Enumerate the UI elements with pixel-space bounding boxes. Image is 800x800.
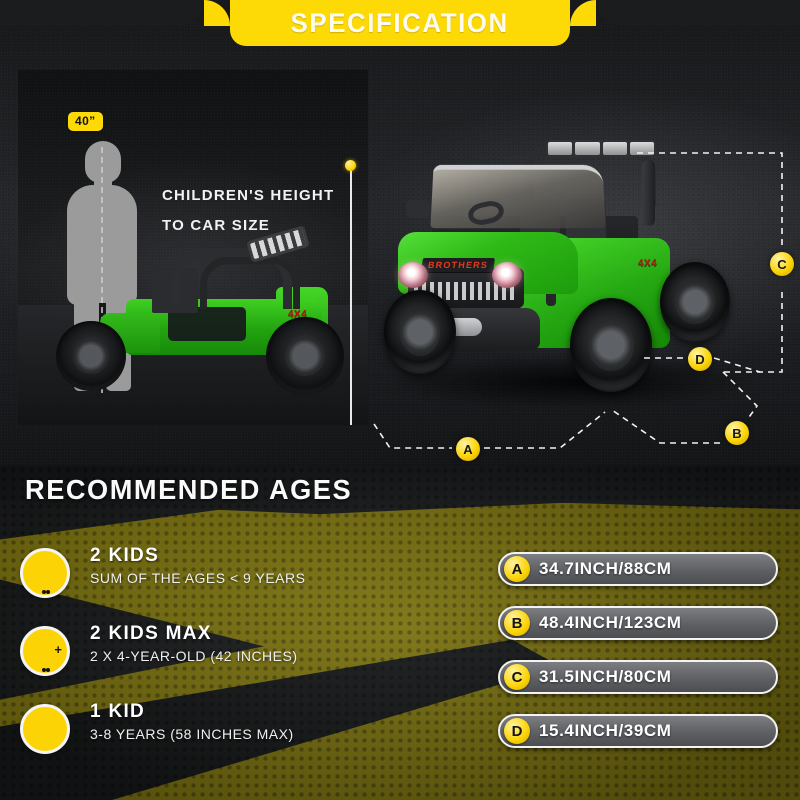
pill-value-a: 34.7INCH/88CM	[539, 559, 672, 579]
pill-badge-b: B	[504, 610, 530, 636]
pill-value-b: 48.4INCH/123CM	[539, 613, 682, 633]
roof-light-2	[575, 142, 599, 155]
hero-wheel-rear-left	[370, 140, 428, 204]
dimension-marker-d[interactable]: D	[688, 347, 712, 371]
age-row: 2 KIDS SUM OF THE AGES < 9 YEARS	[18, 545, 418, 623]
roof-light-3	[603, 142, 627, 155]
pill-value-d: 15.4INCH/39CM	[539, 721, 672, 741]
age-row: 1 KID 3-8 YEARS (58 INCHES MAX)	[18, 701, 418, 779]
dimension-marker-a[interactable]: A	[456, 437, 480, 461]
comparison-caption: CHILDREN'S HEIGHT TO CAR SIZE	[162, 188, 334, 248]
age-row-text: 1 KID 3-8 YEARS (58 INCHES MAX)	[90, 701, 294, 742]
hero-grille-brand-text: BROTHERS	[421, 258, 495, 272]
age-row-title: 2 KIDS MAX	[90, 623, 298, 645]
dimension-pill-list: A 34.7INCH/88CM B 48.4INCH/123CM C 31.5I…	[498, 552, 778, 768]
hero-wheel-front-left	[384, 290, 456, 374]
dimension-pill-b[interactable]: B 48.4INCH/123CM	[498, 606, 778, 640]
vehicle-front-wheel	[56, 321, 126, 391]
dimension-marker-b[interactable]: B	[725, 421, 749, 445]
hero-roof-light-bar	[546, 140, 656, 157]
banner-notch-right	[570, 0, 596, 26]
hero-windshield	[430, 165, 605, 228]
age-row-subtitle: SUM OF THE AGES < 9 YEARS	[90, 570, 305, 586]
age-row-text: 2 KIDS SUM OF THE AGES < 9 YEARS	[90, 545, 305, 586]
caption-line-2: TO CAR SIZE	[162, 218, 334, 233]
specification-hero-section: CHILDREN'S HEIGHT TO CAR SIZE	[0, 0, 800, 466]
header-banner: SPECIFICATION	[0, 0, 800, 52]
banner-dark-left	[0, 0, 204, 26]
pill-badge-a: A	[504, 556, 530, 582]
vehicle-rear-wheel	[266, 317, 344, 395]
banner-plate: SPECIFICATION	[230, 0, 570, 46]
hero-wheel-front-right	[570, 298, 652, 392]
recommended-ages-heading: RECOMMENDED AGES	[25, 474, 352, 506]
age-row-title: 1 KID	[90, 701, 294, 723]
dimension-pill-a[interactable]: A 34.7INCH/88CM	[498, 552, 778, 586]
dimension-pill-c[interactable]: C 31.5INCH/80CM	[498, 660, 778, 694]
age-row: + 2 KIDS MAX 2 X 4-YEAR-OLD (42 INCHES)	[18, 623, 418, 701]
dimension-marker-c[interactable]: C	[770, 252, 794, 276]
age-row-title: 2 KIDS	[90, 545, 305, 567]
roof-light-1	[548, 142, 572, 155]
dimension-pill-d[interactable]: D 15.4INCH/39CM	[498, 714, 778, 748]
recommended-ages-list: 2 KIDS SUM OF THE AGES < 9 YEARS + 2 KID…	[18, 545, 418, 779]
ride-on-car-photo: BROTHERS 4X4	[370, 140, 780, 440]
age-row-text: 2 KIDS MAX 2 X 4-YEAR-OLD (42 INCHES)	[90, 623, 298, 664]
age-row-subtitle: 3-8 YEARS (58 INCHES MAX)	[90, 726, 294, 742]
hero-headlight-right	[492, 262, 522, 288]
height-guide-vertical	[350, 166, 352, 425]
page-title: SPECIFICATION	[291, 8, 509, 39]
guide-dot-top	[345, 160, 356, 171]
silhouette-head	[85, 141, 121, 183]
pill-badge-d: D	[504, 718, 530, 744]
height-badge: 40”	[68, 112, 103, 131]
two-children-icon	[20, 548, 70, 598]
banner-dark-right	[596, 0, 800, 26]
pill-badge-c: C	[504, 664, 530, 690]
pill-value-c: 31.5INCH/80CM	[539, 667, 672, 687]
hero-headlight-left	[398, 262, 428, 288]
hero-wheel-rear-right	[660, 262, 730, 342]
specification-infographic: CHILDREN'S HEIGHT TO CAR SIZE	[0, 0, 800, 800]
vehicle-roll-bar-inner	[200, 257, 300, 309]
hero-side-decal: 4X4	[638, 258, 657, 269]
one-child-icon	[20, 704, 70, 754]
hero-snorkel	[642, 160, 655, 226]
two-children-plus-icon: +	[20, 626, 70, 676]
caption-line-1: CHILDREN'S HEIGHT	[162, 188, 334, 203]
plus-icon: +	[54, 643, 62, 656]
age-row-subtitle: 2 X 4-YEAR-OLD (42 INCHES)	[90, 648, 298, 664]
banner-notch-left	[204, 0, 230, 26]
roof-light-4	[630, 142, 654, 155]
hero-side-mirror	[406, 200, 430, 218]
